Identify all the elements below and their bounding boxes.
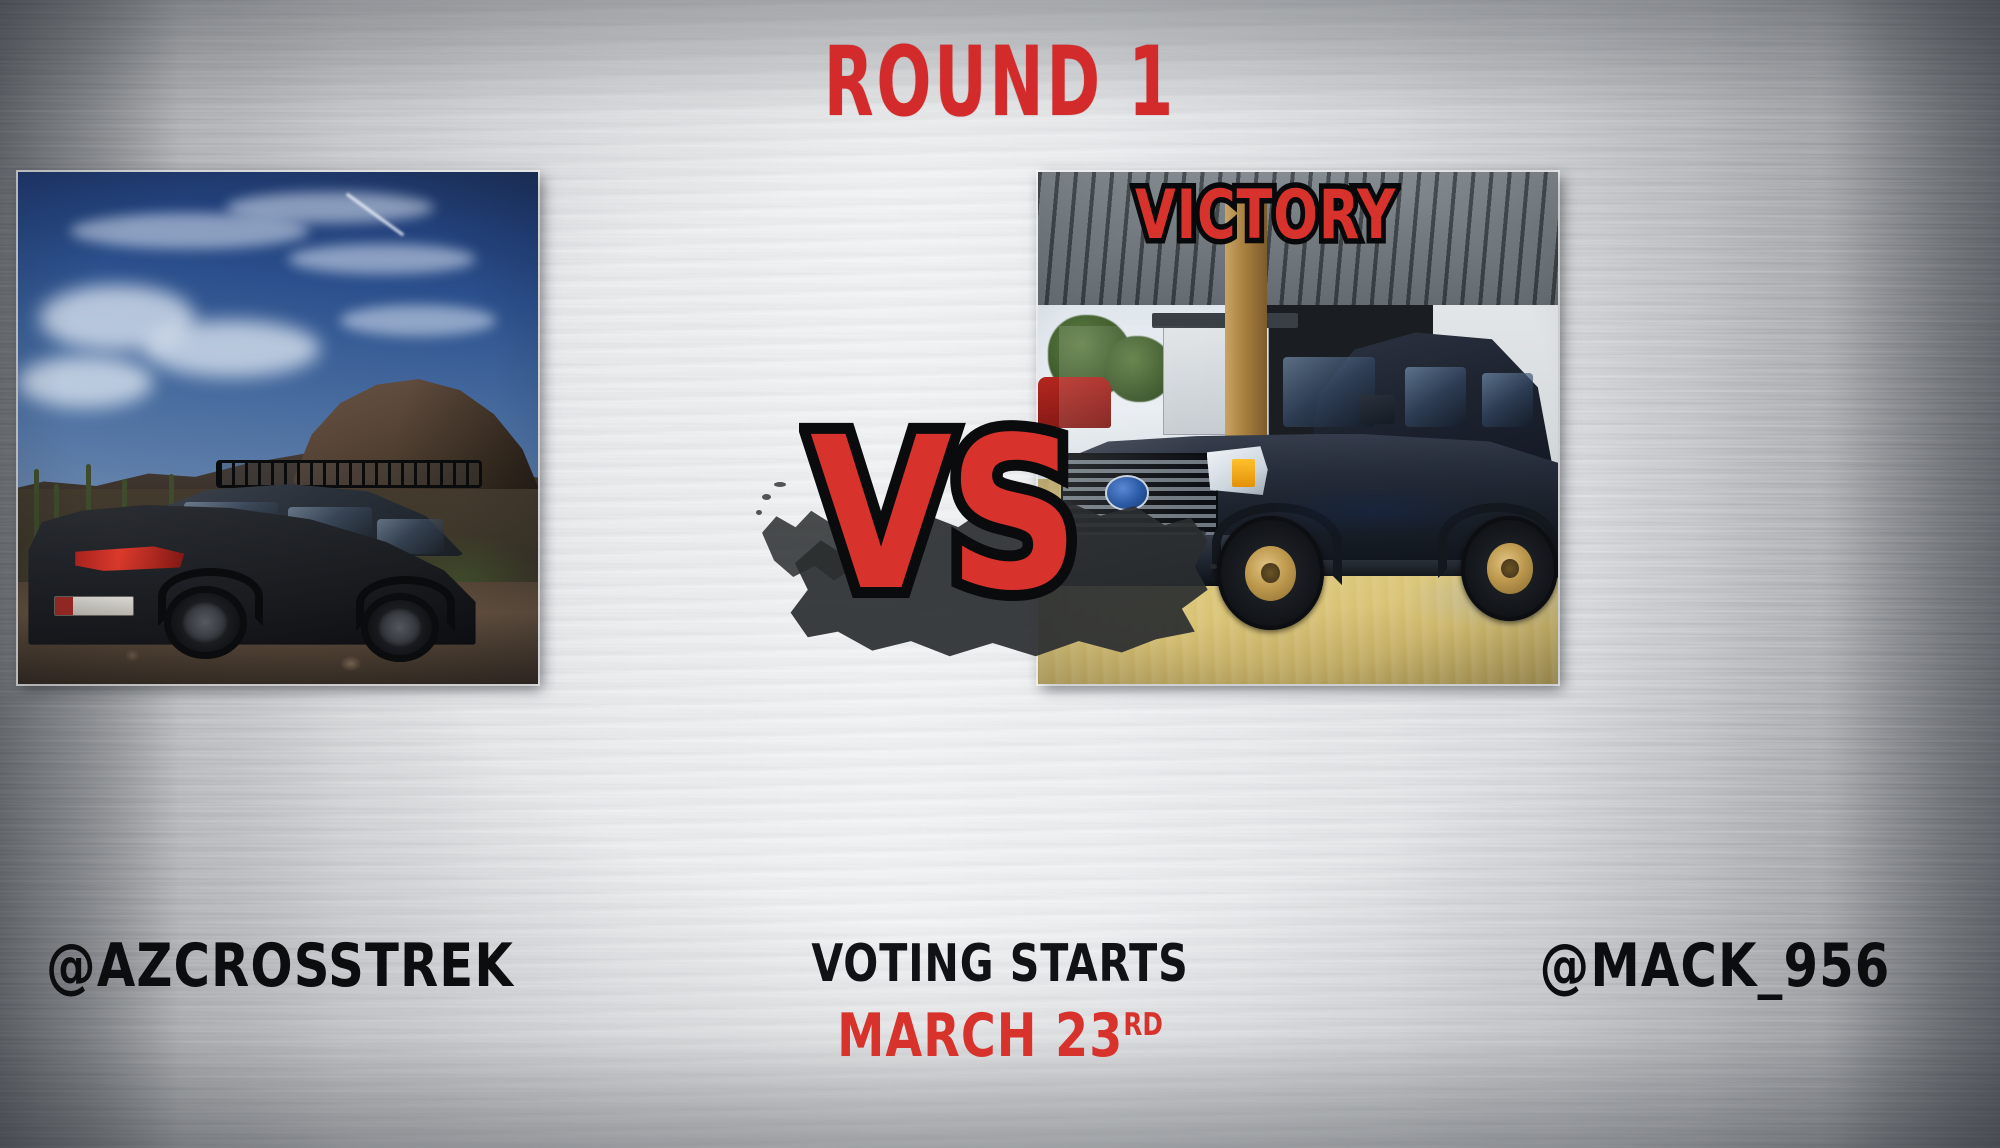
paint-fleck [762,494,771,500]
competitor-photo-left[interactable] [18,172,538,684]
round-title: ROUND 1 [220,34,1780,131]
vs-label: VS [810,410,1076,620]
paint-fleck [1196,530,1206,536]
voting-starts-label: VOTING STARTS [736,938,1264,990]
matchup-graphic: ROUND 1 [0,0,2000,1148]
voting-date-ordinal: RD [1123,1007,1163,1043]
voting-date: MARCH 23RD [736,1006,1264,1066]
paint-fleck [756,510,762,515]
vs-block: VS [760,410,1240,710]
paint-fleck [774,482,786,487]
subaru-scene [18,172,538,684]
handle-right[interactable]: @MACK_956 [1393,936,2000,996]
paint-fleck [1210,564,1217,569]
photo-vignette-left [18,172,538,684]
handle-left[interactable]: @AZCROSSTREK [0,936,602,996]
voting-date-number: MARCH 23 [837,1001,1123,1071]
victory-badge: VICTORY [1135,182,1396,250]
